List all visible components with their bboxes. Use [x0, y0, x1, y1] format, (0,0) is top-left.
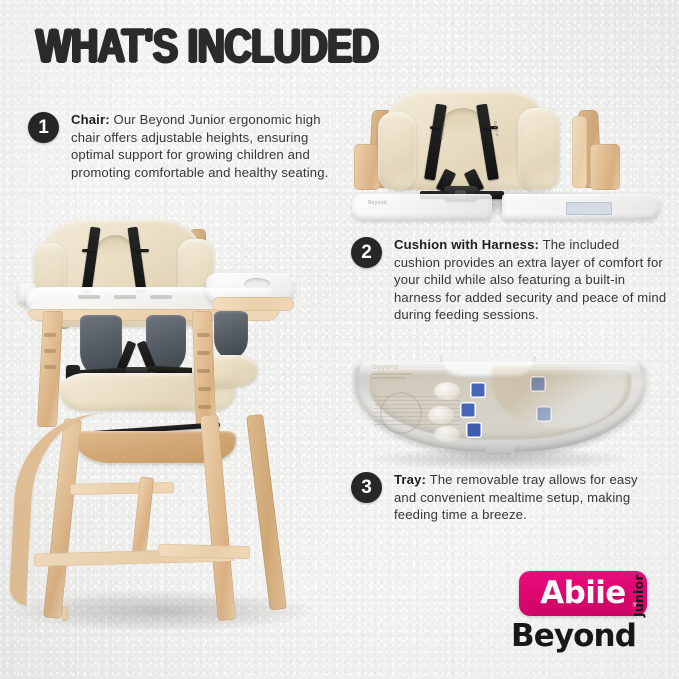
warning-icon-2 [460, 402, 476, 418]
feature-body-3: The removable tray allows for easy and c… [394, 472, 638, 522]
junior-wordmark: Junior [631, 574, 646, 617]
feature-lead-2: Cushion with Harness: [394, 237, 539, 252]
brand-logo: Abiie ® Beyond Junior [511, 571, 663, 663]
feature-number-badge-2: 2 [351, 237, 382, 268]
feature-lead-3: Tray: [394, 472, 426, 487]
beyond-wordmark: Beyond [511, 619, 636, 653]
removable-tray-photo: Beyond [344, 356, 666, 468]
abiie-wordmark: Abiie [540, 578, 625, 609]
feature-item-tray: 3 Tray: The removable tray allows for ea… [351, 471, 663, 524]
feature-item-chair: 1 Chair: Our Beyond Junior ergonomic hig… [28, 111, 338, 181]
feature-item-cushion: 2 Cushion with Harness: The included cus… [351, 236, 669, 324]
feature-number-badge-1: 1 [28, 112, 59, 143]
page-title: WHAT'S INCLUDED [36, 22, 379, 70]
rear-leg-curve [9, 409, 112, 610]
cushion-with-harness-photo: Beyond Beyond Beyond [352, 86, 664, 220]
feature-text-2: Cushion with Harness: The included cushi… [394, 236, 669, 324]
feature-number-badge-3: 3 [351, 472, 382, 503]
infographic-canvas: WHAT'S INCLUDED 1 Chair: Our Beyond Juni… [0, 0, 679, 679]
feature-body-1: Our Beyond Junior ergonomic high chair o… [71, 112, 328, 180]
feature-lead-1: Chair: [71, 112, 110, 127]
warning-icon-3 [466, 422, 482, 438]
abiie-logo-badge: Abiie ® [519, 571, 647, 616]
tray-brand-label-small: Beyond [368, 200, 387, 206]
warning-icon-1 [470, 382, 486, 398]
feature-text-1: Chair: Our Beyond Junior ergonomic high … [71, 111, 338, 181]
high-chair-product-photo [18, 215, 318, 635]
feature-text-3: Tray: The removable tray allows for easy… [394, 471, 663, 524]
harness-strap-brand-right: Beyond [476, 120, 500, 137]
